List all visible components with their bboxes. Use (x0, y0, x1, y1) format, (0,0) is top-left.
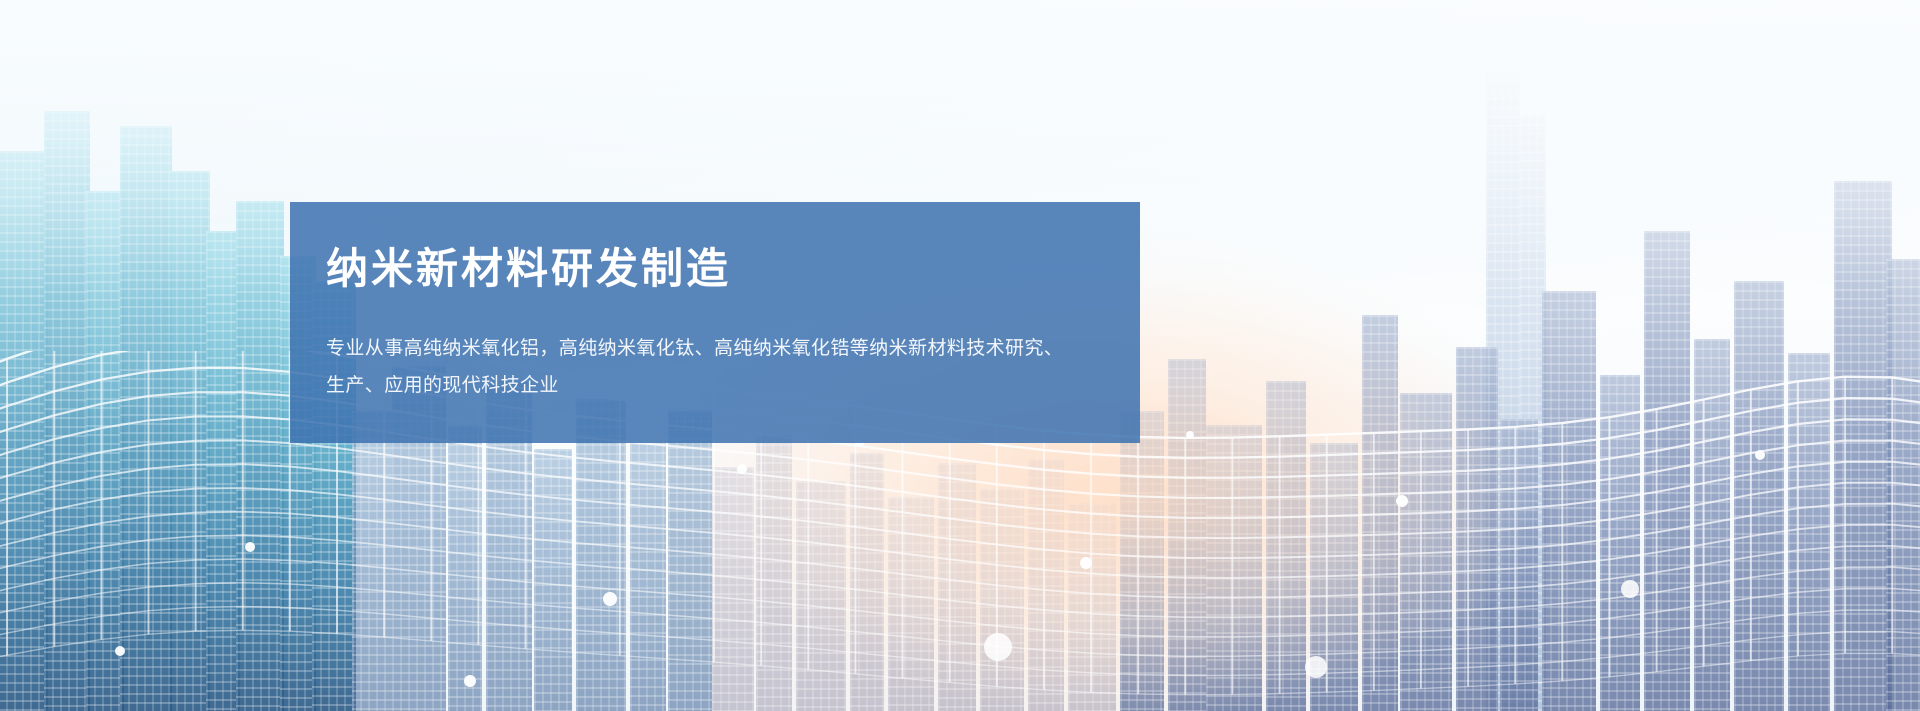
hero-subtitle-line-2: 生产、应用的现代科技企业 (326, 367, 1094, 404)
hero-banner: 纳米新材料研发制造 专业从事高纯纳米氧化铝，高纯纳米氧化钛、高纯纳米氧化锆等纳米… (0, 0, 1920, 711)
hero-text-panel: 纳米新材料研发制造 专业从事高纯纳米氧化铝，高纯纳米氧化钛、高纯纳米氧化锆等纳米… (290, 202, 1140, 443)
hero-subtitle: 专业从事高纯纳米氧化铝，高纯纳米氧化钛、高纯纳米氧化锆等纳米新材料技术研究、 生… (326, 330, 1094, 404)
page-title: 纳米新材料研发制造 (326, 246, 1094, 292)
hero-subtitle-line-1: 专业从事高纯纳米氧化铝，高纯纳米氧化钛、高纯纳米氧化锆等纳米新材料技术研究、 (326, 330, 1094, 367)
